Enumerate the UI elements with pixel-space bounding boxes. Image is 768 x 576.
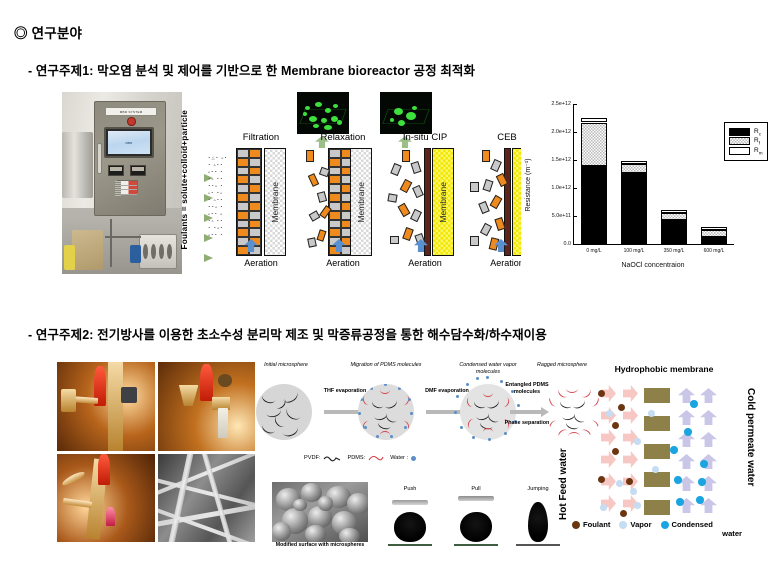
vapor-dot xyxy=(630,488,637,495)
detached-floc xyxy=(316,229,326,242)
panel-filtration: Filtration Membrane ∘△∘ ▵∘∘ ▵∘∘▵∘∘ ∘∘▵ ∘… xyxy=(224,148,298,268)
electrospinning-photo-1 xyxy=(57,362,155,451)
detached-floc xyxy=(309,210,321,221)
panel-relaxation: Relaxation Membrane Aeration xyxy=(306,148,380,268)
chart-y-tick: 1.0e+12 xyxy=(551,185,574,191)
droplet-pull: Pull xyxy=(450,498,502,546)
membrane-column: Membrane xyxy=(432,148,454,256)
chart-bar-segment-rm xyxy=(621,161,647,164)
chart-x-tick: 350 mg/L xyxy=(664,248,685,254)
chart-y-tick: 2.5e+12 xyxy=(551,101,574,107)
detached-floc xyxy=(470,236,479,246)
chart-x-tick: 100 mg/L xyxy=(624,248,645,254)
vapor-dot xyxy=(634,502,641,509)
chart-bar-segment-rc xyxy=(621,173,647,244)
step2-caption: Migration of PDMS molecules xyxy=(348,362,424,369)
membrane-block xyxy=(644,500,670,515)
md-legend-vapor: Vapor xyxy=(619,520,651,529)
permeate-flow-arrow-icon xyxy=(700,410,717,425)
detached-floc xyxy=(402,227,414,241)
membrane-block xyxy=(644,444,670,459)
digital-meter-1 xyxy=(108,165,124,176)
membrane-label: Membrane xyxy=(356,182,366,223)
feed-flow-arrow-icon xyxy=(623,385,638,402)
detached-floc xyxy=(410,161,421,174)
chart-bar xyxy=(701,227,727,244)
vapor-dot xyxy=(652,466,659,473)
chart-bar xyxy=(581,118,607,244)
photo-duct xyxy=(62,132,93,198)
legend-water: Water : xyxy=(390,455,416,461)
aeration-label: Aeration xyxy=(306,258,380,268)
biofilm-layer xyxy=(424,148,431,256)
md-legend-label-condensed-line2: water xyxy=(572,529,756,538)
chart-bar-segment-rf xyxy=(661,213,687,221)
detached-floc xyxy=(307,237,317,247)
vapor-dot xyxy=(606,410,613,417)
chart-legend: Rc Rf Rm xyxy=(724,122,768,161)
legend-swatch-rf xyxy=(729,137,750,145)
digital-meter-2 xyxy=(130,165,146,176)
condensed-dot xyxy=(674,476,682,484)
membrane-distillation-diagram: Hydrophobic membrane Hot Feed water Cold… xyxy=(556,362,756,560)
mbr-mechanism-diagram: Foulants = solute+colloid+particle xyxy=(182,92,512,288)
detached-floc xyxy=(482,150,490,162)
page-title: ◎ 연구분야 xyxy=(14,22,82,42)
mbr-system-photo: MBR SYSTEM MBR xyxy=(62,92,182,274)
detached-floc xyxy=(478,201,490,214)
resistance-bar-chart: Resistance (m⁻¹) 0.05.0e+111.0e+121.5e+1… xyxy=(521,90,755,280)
microsphere-legend: PVDF: PDMS: Water : xyxy=(304,454,416,462)
topic1-heading: - 연구주제1: 막오염 분석 및 제어를 기반으로 한 Membrane bi… xyxy=(28,60,475,79)
membrane-block xyxy=(644,416,670,431)
pipe-horizontal xyxy=(105,236,141,238)
md-legend-foulant: Foulant xyxy=(572,520,610,529)
emergency-stop-icon xyxy=(127,117,135,126)
legend-item-rf: Rf xyxy=(729,137,763,145)
chart-bar xyxy=(621,161,647,244)
cabinet-label: MBR SYSTEM xyxy=(105,107,157,117)
vapor-dot-icon xyxy=(619,521,627,529)
membrane-block xyxy=(644,472,670,487)
membrane-label: Membrane xyxy=(270,182,280,223)
detached-floc xyxy=(480,223,492,236)
step1-caption: Initial microsphere xyxy=(254,362,318,369)
condensed-dot xyxy=(696,496,704,504)
permeate-flow-arrow-icon xyxy=(678,454,695,469)
microsphere-migration xyxy=(358,384,414,440)
md-cold-permeate-label: Cold permeate water xyxy=(745,388,756,536)
pvdf-squiggle-icon xyxy=(323,454,341,462)
vapor-dot xyxy=(616,480,623,487)
chart-bar-segment-rm xyxy=(661,210,687,212)
feed-flow-arrow-icon xyxy=(623,407,638,424)
cake-layer xyxy=(236,148,262,256)
water-dot-icon xyxy=(411,456,416,461)
legend-pdms: PDMS: xyxy=(347,454,384,462)
condensed-dot xyxy=(676,498,684,506)
electrospinning-photo-3 xyxy=(57,454,155,543)
detached-floc xyxy=(412,185,424,198)
md-legend-label-condensed: Condensed xyxy=(672,520,713,529)
detached-floc xyxy=(308,173,319,187)
aeration-label: Aeration xyxy=(224,258,298,268)
droplet-label-push: Push xyxy=(384,486,436,492)
feed-flow-arrow-icon xyxy=(623,451,638,468)
detached-floc xyxy=(390,236,399,244)
condensed-dot xyxy=(690,400,698,408)
panel-title: Filtration xyxy=(224,132,298,143)
feed-flow-arrow-icon xyxy=(601,429,616,446)
foulant-particles: ∘△∘ ▵∘∘ ▵∘∘▵∘∘ ∘∘▵ ∘∘∘∘▵ ∘▵∘ ∘▵∘ ▵∘∘∘∘▵ … xyxy=(208,154,234,254)
foulant-axis-label: Foulants = solute+colloid+particle xyxy=(180,110,189,249)
aeration-label: Aeration xyxy=(388,258,462,268)
vapor-dot xyxy=(648,410,655,417)
chart-bar-segment-rf xyxy=(701,230,727,237)
droplet-push: Push xyxy=(384,498,436,546)
foulant-dot xyxy=(620,510,627,517)
legend-swatch-rc xyxy=(729,128,750,136)
sem-microsphere-image xyxy=(272,482,368,542)
legend-label-water: Water : xyxy=(390,455,408,461)
foulant-dot xyxy=(626,478,633,485)
chart-bar-segment-rc xyxy=(581,166,607,244)
vapor-dot xyxy=(600,504,607,511)
sem-caption: Modified surface with microspheres xyxy=(272,542,368,548)
chart-y-axis-label: Resistance (m⁻¹) xyxy=(525,158,533,211)
condensed-dot xyxy=(700,460,708,468)
chart-bar-segment-rm xyxy=(701,227,727,230)
chart-x-tick: 600 mg/L xyxy=(704,248,725,254)
chart-y-tick: 2.0e+12 xyxy=(551,129,574,135)
feed-tank xyxy=(72,230,103,270)
legend-label-pdms: PDMS: xyxy=(347,455,365,461)
condensed-dot xyxy=(698,478,706,486)
detached-floc xyxy=(390,163,402,176)
electrospinning-photo-2 xyxy=(158,362,256,451)
md-legend-label-vapor: Vapor xyxy=(630,520,651,529)
feed-arrow-icon xyxy=(204,254,213,262)
arrow-label-phase-separation: Phase separation xyxy=(502,420,552,427)
cabinet-vent xyxy=(115,181,121,197)
step3-caption: Condensed water vapor molecules xyxy=(448,362,528,376)
condensed-dot xyxy=(670,446,678,454)
droplet-label-pull: Pull xyxy=(450,486,502,492)
detached-floc xyxy=(482,179,493,192)
pump-unit xyxy=(139,234,177,269)
cabinet-handle xyxy=(97,143,102,174)
arrow-phase-separation xyxy=(510,410,542,414)
chart-bar-segment-rc xyxy=(701,237,727,244)
detached-floc xyxy=(470,182,479,192)
sem-nanofiber-photo xyxy=(158,454,256,543)
chart-y-tick: 1.5e+12 xyxy=(551,157,574,163)
pdms-squiggle-icon xyxy=(368,454,384,462)
legend-swatch-rm xyxy=(729,147,750,155)
legend-label-rm: Rm xyxy=(754,147,763,155)
md-legend: Foulant Vapor Condensed water xyxy=(572,520,756,538)
topic2-heading: - 연구주제2: 전기방사를 이용한 초소수성 분리막 제조 및 막증류공정을 … xyxy=(28,324,547,343)
biofilm-layer xyxy=(504,148,511,256)
detached-floc xyxy=(402,150,410,162)
microsphere-formation-diagram: Initial microsphere THF evaporation Migr… xyxy=(258,362,554,468)
chart-x-tick: 0 mg/L xyxy=(586,248,601,254)
arrow-label-entangled: Entangled PDMS molecules xyxy=(502,382,552,396)
legend-label-rc: Rc xyxy=(754,128,761,136)
permeate-flow-arrow-icon xyxy=(700,432,717,447)
legend-item-rc: Rc xyxy=(729,128,763,136)
clsm-image-relaxation xyxy=(297,92,349,134)
md-legend-condensed: Condensed xyxy=(661,520,713,529)
detached-floc xyxy=(490,159,502,172)
clsm-image-cip xyxy=(380,92,432,134)
hmi-text: MBR xyxy=(125,141,132,145)
panel-title: In-situ CIP xyxy=(388,132,462,143)
md-title: Hydrophobic membrane xyxy=(590,364,738,374)
microsphere-initial xyxy=(256,384,312,440)
hmi-touchscreen: MBR xyxy=(104,127,154,159)
foulant-dot-icon xyxy=(572,521,580,529)
panel-in-situ-cip: In-situ CIP Membrane Aeration xyxy=(388,148,462,268)
foulant-dot xyxy=(618,404,625,411)
detached-floc xyxy=(400,179,413,193)
condensed-dot xyxy=(684,428,692,436)
surface-and-droplet-row: Modified surface with microspheres Push … xyxy=(272,478,542,558)
foulant-dot xyxy=(598,476,605,483)
permeate-flow-arrow-icon xyxy=(700,388,717,403)
chart-bar-segment-rc xyxy=(661,220,687,244)
chart-bar-segment-rm xyxy=(581,118,607,122)
slide-page: ◎ 연구분야 - 연구주제1: 막오염 분석 및 제어를 기반으로 한 Memb… xyxy=(0,0,768,576)
detached-floc xyxy=(306,150,314,162)
foulant-dot xyxy=(612,422,619,429)
condensed-dot-icon xyxy=(661,521,669,529)
detached-floc xyxy=(317,191,327,203)
chart-plot-area: 0.05.0e+111.0e+121.5e+122.0e+122.5e+12 0… xyxy=(573,104,734,245)
membrane-block xyxy=(644,388,670,403)
chart-bar-segment-rf xyxy=(621,164,647,173)
permeate-flow-arrow-icon xyxy=(678,410,695,425)
chart-bar-segment-rf xyxy=(581,123,607,166)
detached-floc xyxy=(398,203,411,217)
chart-x-axis-label: NaOCl concentraion xyxy=(573,262,733,269)
md-hot-feed-label: Hot Feed water xyxy=(558,388,569,520)
pipe-vertical xyxy=(110,219,112,266)
chart-bar xyxy=(661,210,687,244)
chart-y-tick: 5.0e+11 xyxy=(552,213,574,219)
membrane-column: Membrane xyxy=(350,148,372,256)
legend-label-rf: Rf xyxy=(754,137,760,145)
vapor-dot xyxy=(634,438,641,445)
chart-y-tick: 0.0 xyxy=(564,241,575,247)
yellow-container xyxy=(64,245,75,270)
membrane-label: Membrane xyxy=(438,182,448,223)
legend-label-pvdf: PVDF: xyxy=(304,455,320,461)
panel-title: Relaxation xyxy=(306,132,380,143)
legend-pvdf: PVDF: xyxy=(304,454,341,462)
md-legend-label-foulant: Foulant xyxy=(583,520,610,529)
membrane-column: Membrane xyxy=(264,148,286,256)
blue-valve xyxy=(130,245,141,263)
detached-floc xyxy=(410,209,422,222)
detached-floc xyxy=(387,193,397,202)
foulant-dot xyxy=(598,390,605,397)
control-cabinet: MBR SYSTEM MBR xyxy=(94,101,166,216)
detached-floc xyxy=(490,195,503,209)
foulant-dot xyxy=(612,448,619,455)
electrospinning-photo-grid xyxy=(57,362,255,542)
legend-item-rm: Rm xyxy=(729,147,763,155)
